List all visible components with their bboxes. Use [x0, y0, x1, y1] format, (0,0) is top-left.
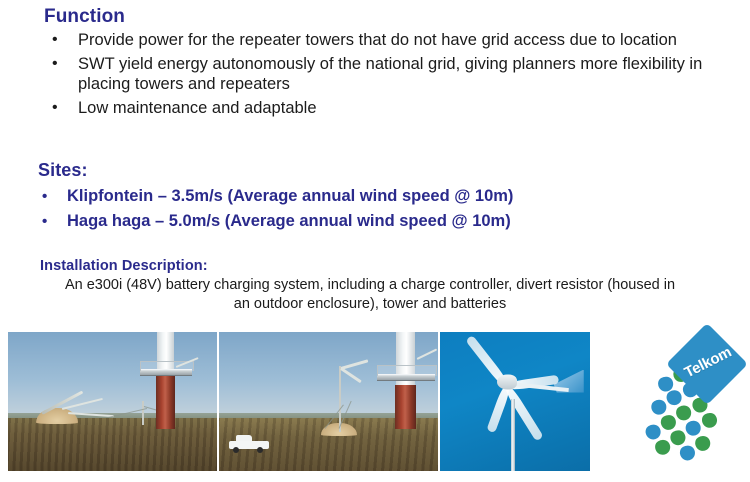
bullet-glyph-icon: •	[52, 30, 58, 50]
tower-red-section	[395, 385, 416, 429]
installation-description-text: An e300i (48V) battery charging system, …	[55, 276, 685, 314]
function-bullet-text: SWT yield energy autonomously of the nat…	[78, 55, 702, 93]
sites-heading: Sites:	[38, 160, 88, 181]
telkom-logo: Telkom	[645, 333, 745, 463]
sites-bullet-item: • Haga haga – 5.0m/s (Average annual win…	[38, 209, 728, 234]
site-entry-text: Haga haga – 5.0m/s (Average annual wind …	[67, 212, 511, 230]
photo-turbine-closeup	[439, 332, 590, 471]
function-bullet-item: • SWT yield energy autonomously of the n…	[38, 54, 728, 94]
truck-wheel	[233, 447, 239, 453]
function-bullet-text: Low maintenance and adaptable	[78, 99, 317, 117]
function-heading: Function	[44, 6, 125, 28]
photo-wind-site-truck	[217, 332, 438, 471]
turbine-tower	[156, 333, 175, 429]
function-bullet-item: • Provide power for the repeater towers …	[38, 30, 728, 50]
tower-red-section	[156, 371, 175, 429]
function-bullet-text: Provide power for the repeater towers th…	[78, 31, 677, 49]
function-bullet-list: • Provide power for the repeater towers …	[38, 30, 728, 122]
sites-bullet-list: • Klipfontein – 3.5m/s (Average annual w…	[38, 184, 728, 234]
installation-description-heading: Installation Description:	[40, 258, 208, 274]
bullet-glyph-icon: •	[42, 184, 47, 209]
logo-dot	[699, 410, 720, 431]
bullet-glyph-icon: •	[42, 209, 47, 234]
truck-wheel	[257, 447, 263, 453]
slide-canvas: Function • Provide power for the repeate…	[0, 0, 750, 480]
ground-terrain	[8, 418, 217, 471]
photo-wind-site-tower-base	[8, 332, 217, 471]
tower-platform-rail	[377, 365, 437, 376]
photo-strip	[8, 332, 590, 471]
logo-dot	[692, 433, 713, 454]
bullet-glyph-icon: •	[52, 54, 58, 74]
function-bullet-item: • Low maintenance and adaptable	[38, 98, 728, 118]
sites-bullet-item: • Klipfontein – 3.5m/s (Average annual w…	[38, 184, 728, 209]
met-mast	[142, 401, 144, 425]
photo-divider	[217, 332, 219, 471]
turbine-mast	[511, 399, 515, 471]
turbine-hub	[497, 375, 517, 390]
turbine-tower	[395, 332, 416, 429]
site-entry-text: Klipfontein – 3.5m/s (Average annual win…	[67, 187, 513, 205]
bullet-glyph-icon: •	[52, 98, 58, 118]
slide-text-content: Function • Provide power for the repeate…	[0, 0, 750, 332]
photo-divider	[438, 332, 440, 471]
